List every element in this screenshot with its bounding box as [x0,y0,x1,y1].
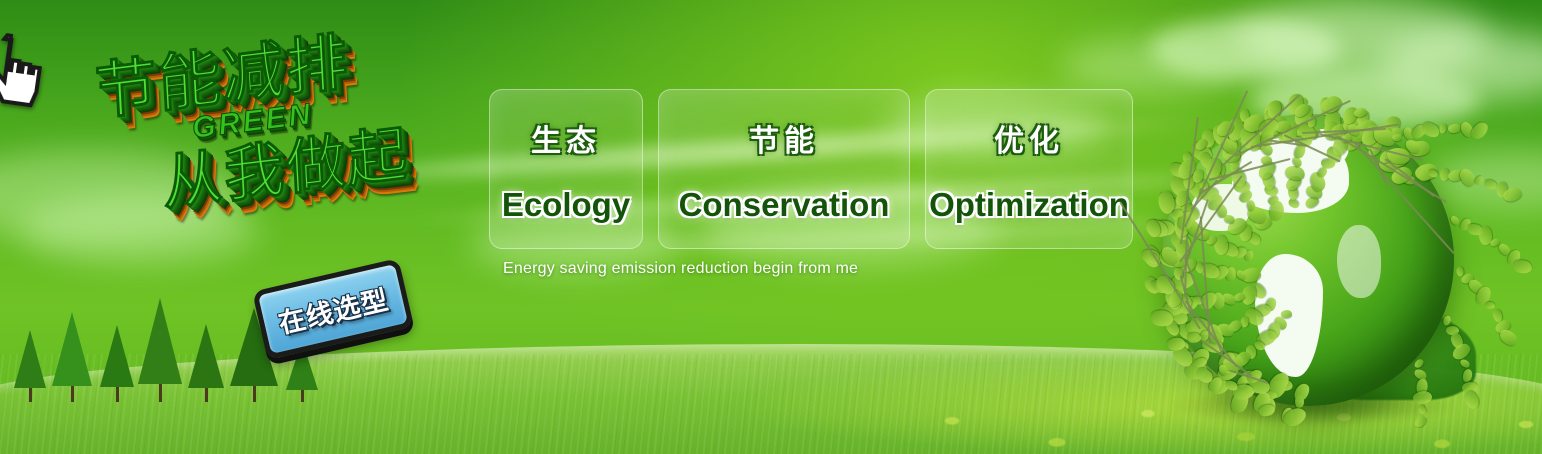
feature-card-en-label: Conservation [679,186,890,224]
feature-card-list: 生态 Ecology 节能 Conservation 优化 Optimizati… [489,89,1133,249]
eco-promo-banner: 节能减排 GREEN 从我做起 在线选型 生态 Ecology 节能 Conse… [0,0,1542,454]
online-selection-button[interactable]: 在线选型 [252,258,414,360]
online-selection-button-label: 在线选型 [252,258,414,360]
feature-card-cn-label: 生态 [531,116,601,160]
feature-card-en-label: Optimization [929,186,1129,224]
feature-card-en-label: Ecology [502,186,630,224]
feature-card-conservation[interactable]: 节能 Conservation [658,89,910,249]
leafy-globe-icon [1140,96,1470,426]
feature-card-cn-label: 优化 [994,116,1064,160]
feature-card-ecology[interactable]: 生态 Ecology [489,89,643,249]
banner-tagline: Energy saving emission reduction begin f… [503,260,858,278]
hand-pointer-icon [0,30,47,112]
feature-card-optimization[interactable]: 优化 Optimization [925,89,1133,249]
headline-artwork: 节能减排 GREEN 从我做起 [91,16,496,291]
feature-card-cn-label: 节能 [749,116,819,160]
